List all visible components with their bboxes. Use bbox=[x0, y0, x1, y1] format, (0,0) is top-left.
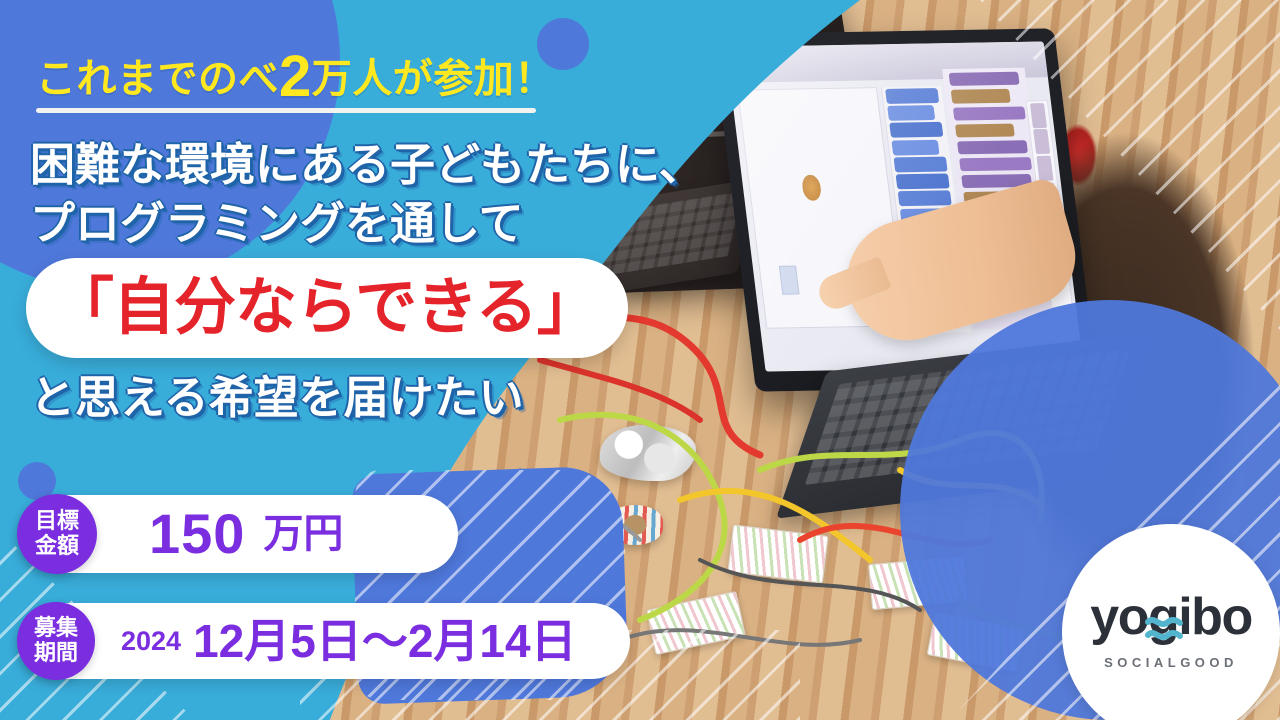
campaign-period-chip: 募集 期間 bbox=[17, 602, 95, 680]
quote-pill: 「自分ならできる」 bbox=[26, 258, 628, 358]
goal-chip-line-1: 目標 bbox=[35, 509, 79, 534]
goal-amount-unit: 万円 bbox=[263, 514, 343, 554]
quote-text: 「自分ならできる」 bbox=[52, 277, 598, 339]
lead-line-2: プログラミングを通して bbox=[30, 195, 640, 254]
eyebrow-headline: これまでのべ2万人が参加！ bbox=[36, 46, 556, 104]
campaign-period-year: 2024 bbox=[121, 628, 181, 655]
campaign-period-row: 募集 期間 2024 12月5日〜2月14日 bbox=[18, 603, 630, 679]
yogibo-wordmark: yogibo bbox=[1090, 591, 1251, 643]
eyebrow-prefix: これまでのべ bbox=[36, 57, 279, 101]
period-chip-line-1: 募集 bbox=[34, 616, 78, 641]
paper-circuit-card bbox=[646, 591, 746, 655]
eyebrow-divider bbox=[36, 108, 536, 113]
goal-amount-row: 目標 金額 150 万円 bbox=[18, 495, 458, 573]
campaign-period-range: 12月5日〜2月14日 bbox=[193, 618, 577, 664]
paper-circuit-card bbox=[727, 524, 828, 583]
yogibo-logo-subtitle: SOCIALGOOD bbox=[1104, 655, 1238, 670]
goal-chip-line-2: 金額 bbox=[35, 534, 79, 559]
eyebrow-number: 2 bbox=[279, 44, 312, 109]
period-chip-line-2: 期間 bbox=[34, 641, 78, 666]
foil-ball bbox=[600, 425, 696, 481]
eyebrow-suffix: 万人が参加！ bbox=[312, 57, 555, 101]
yogibo-squiggle-icon bbox=[1144, 613, 1184, 647]
lead-line-1: 困難な環境にある子どもたちに、 bbox=[30, 136, 640, 195]
goal-amount-chip: 目標 金額 bbox=[17, 494, 97, 574]
tagline: と思える希望を届けたい bbox=[30, 371, 524, 425]
goal-amount-value: 150 bbox=[149, 506, 245, 562]
campaign-banner: これまでのべ2万人が参加！ 困難な環境にある子どもたちに、 プログラミングを通し… bbox=[0, 0, 1280, 720]
lead-headline: 困難な環境にある子どもたちに、 プログラミングを通して bbox=[30, 136, 640, 253]
